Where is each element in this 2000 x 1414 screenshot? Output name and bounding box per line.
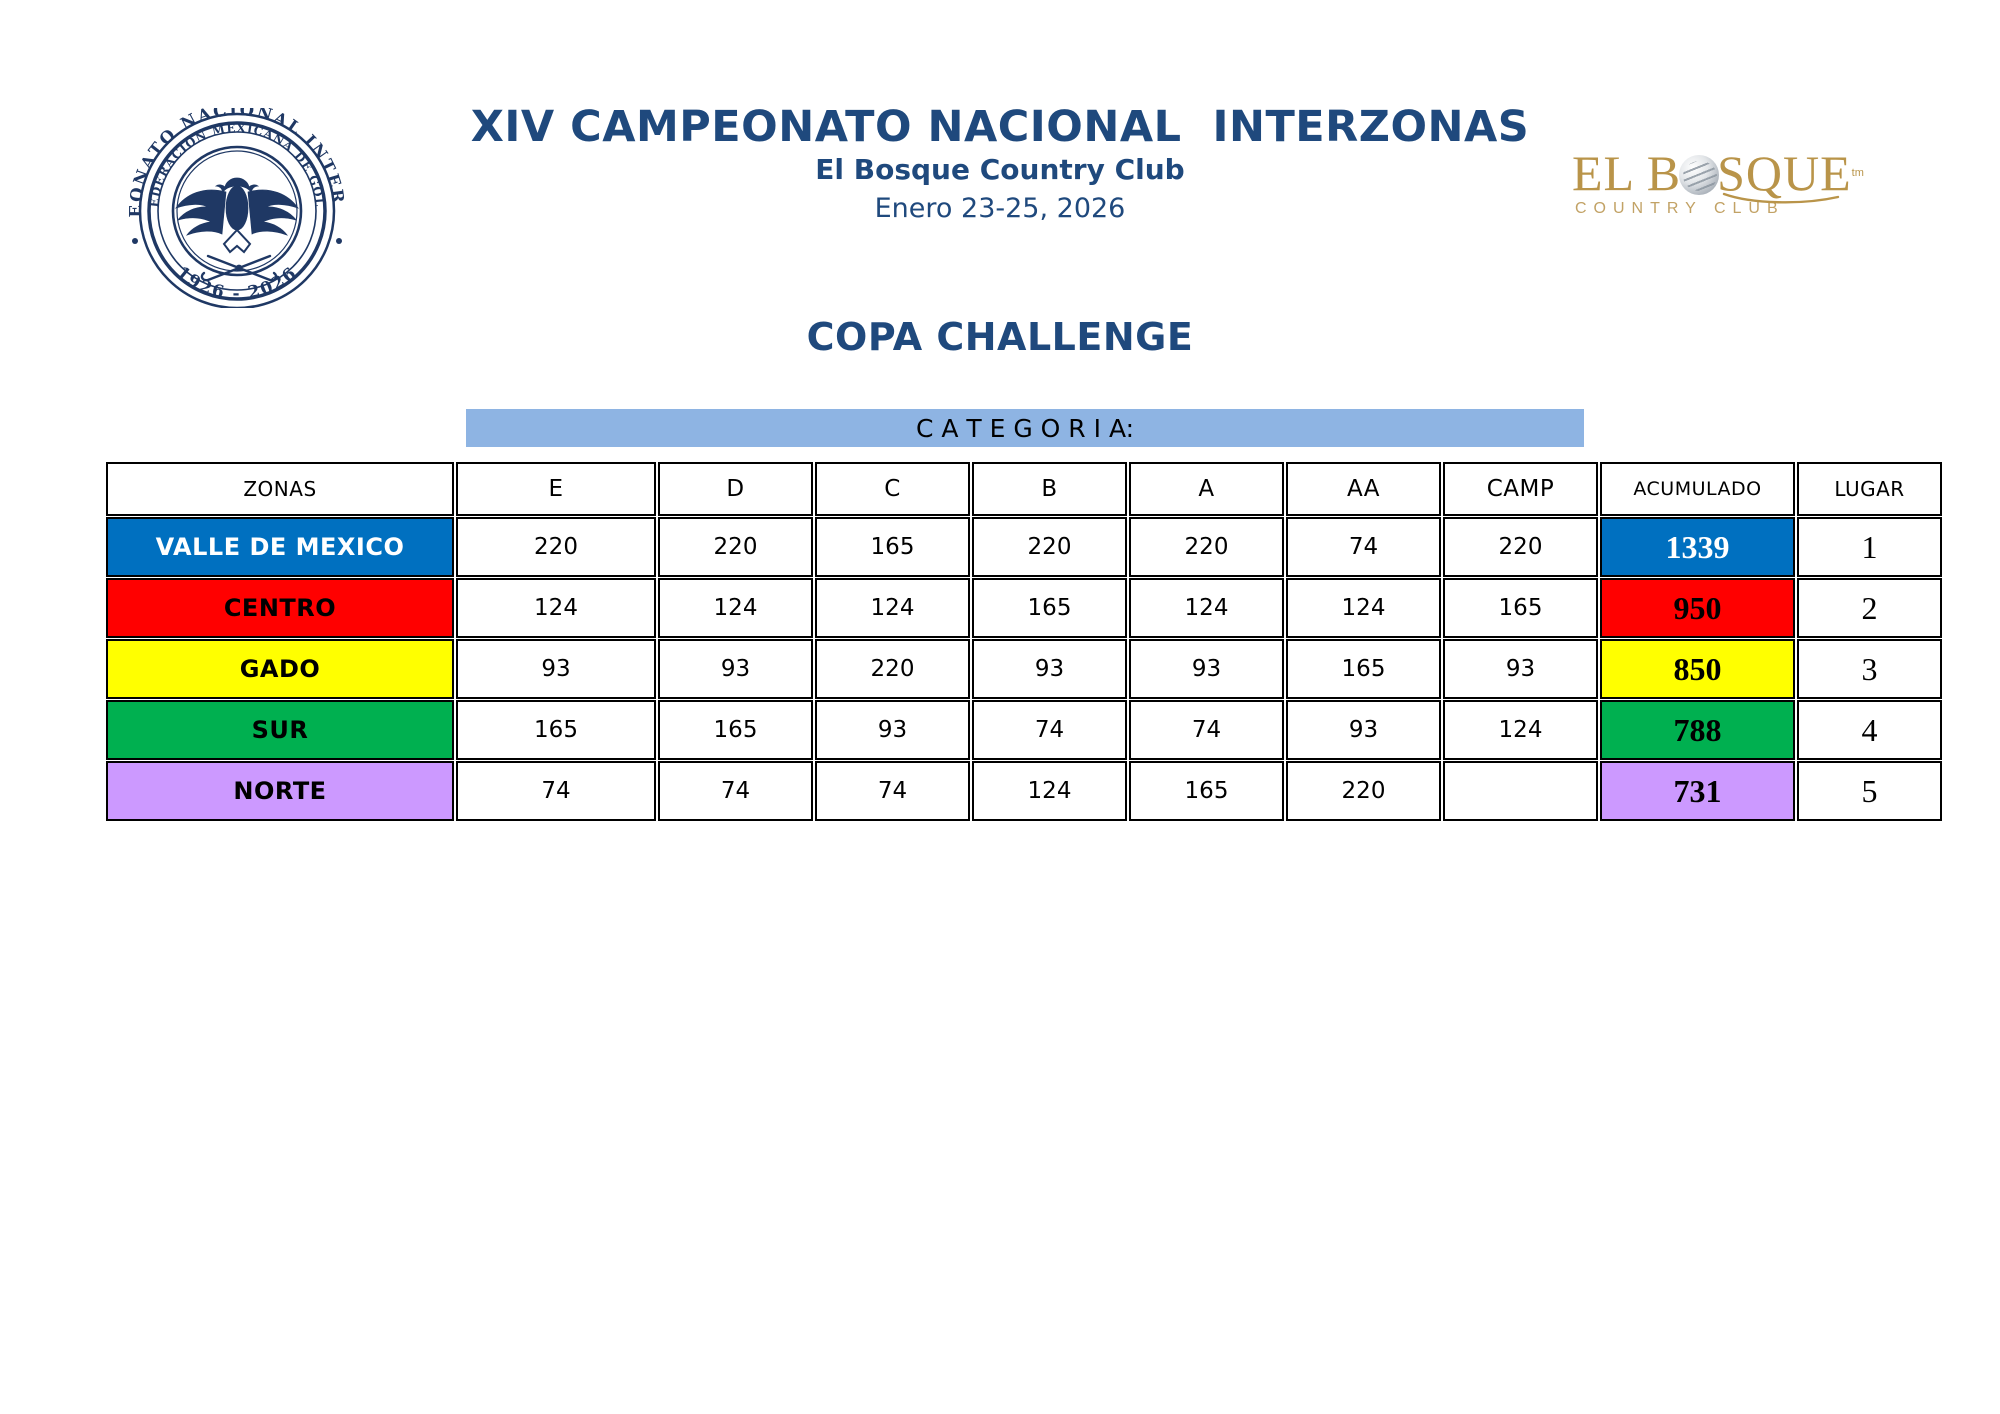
lugar-cell: 2 xyxy=(1797,578,1942,638)
golf-ball-icon xyxy=(1679,155,1719,195)
score-cell-aa: 124 xyxy=(1286,578,1441,638)
acumulado-cell: 731 xyxy=(1600,761,1795,821)
column-header-acumulado: ACUMULADO xyxy=(1600,462,1795,516)
column-header-a: A xyxy=(1129,462,1284,516)
zone-name-cell: NORTE xyxy=(106,761,454,821)
table-row: SUR 165 165 93 74 74 93 124 788 4 xyxy=(106,700,1942,760)
score-cell-a: 74 xyxy=(1129,700,1284,760)
score-cell-camp: 220 xyxy=(1443,517,1598,577)
standings-table: ZONAS E D C B A AA CAMP ACUMULADO LUGAR … xyxy=(104,461,1944,822)
table-header-row: ZONAS E D C B A AA CAMP ACUMULADO LUGAR xyxy=(106,462,1942,516)
standings-table-container: ZONAS E D C B A AA CAMP ACUMULADO LUGAR … xyxy=(104,461,1922,822)
score-cell-c: 93 xyxy=(815,700,970,760)
table-row: CENTRO 124 124 124 165 124 124 165 950 2 xyxy=(106,578,1942,638)
club-tagline: COUNTRY CLUB xyxy=(1575,200,1872,218)
score-cell-e: 220 xyxy=(456,517,656,577)
column-header-e: E xyxy=(456,462,656,516)
table-row: GADO 93 93 220 93 93 165 93 850 3 xyxy=(106,639,1942,699)
score-cell-e: 93 xyxy=(456,639,656,699)
acumulado-cell: 950 xyxy=(1600,578,1795,638)
score-cell-b: 165 xyxy=(972,578,1127,638)
lugar-cell: 5 xyxy=(1797,761,1942,821)
zone-name-cell: SUR xyxy=(106,700,454,760)
copa-challenge-title: COPA CHALLENGE xyxy=(0,315,2000,359)
score-cell-b: 124 xyxy=(972,761,1127,821)
score-cell-aa: 220 xyxy=(1286,761,1441,821)
categoria-banner: C A T E G O R I A: xyxy=(466,409,1584,447)
acumulado-cell: 850 xyxy=(1600,639,1795,699)
categoria-label: C A T E G O R I A: xyxy=(916,414,1134,443)
el-bosque-country-club-logo: EL BSQUEtm COUNTRY CLUB xyxy=(1572,148,1872,220)
column-header-b: B xyxy=(972,462,1127,516)
score-cell-e: 165 xyxy=(456,700,656,760)
score-cell-camp xyxy=(1443,761,1598,821)
table-header: ZONAS E D C B A AA CAMP ACUMULADO LUGAR xyxy=(106,462,1942,516)
club-wordmark: EL BSQUEtm xyxy=(1572,148,1872,198)
score-cell-camp: 93 xyxy=(1443,639,1598,699)
score-cell-d: 124 xyxy=(658,578,813,638)
score-cell-a: 165 xyxy=(1129,761,1284,821)
column-header-zonas: ZONAS xyxy=(106,462,454,516)
score-cell-camp: 165 xyxy=(1443,578,1598,638)
column-header-d: D xyxy=(658,462,813,516)
table-row: NORTE 74 74 74 124 165 220 731 5 xyxy=(106,761,1942,821)
score-cell-aa: 74 xyxy=(1286,517,1441,577)
score-cell-a: 93 xyxy=(1129,639,1284,699)
column-header-lugar: LUGAR xyxy=(1797,462,1942,516)
score-cell-c: 74 xyxy=(815,761,970,821)
score-cell-e: 124 xyxy=(456,578,656,638)
acumulado-cell: 788 xyxy=(1600,700,1795,760)
zone-name-cell: VALLE DE MEXICO xyxy=(106,517,454,577)
score-cell-c: 124 xyxy=(815,578,970,638)
score-cell-a: 220 xyxy=(1129,517,1284,577)
score-cell-a: 124 xyxy=(1129,578,1284,638)
column-header-camp: CAMP xyxy=(1443,462,1598,516)
score-cell-d: 74 xyxy=(658,761,813,821)
score-cell-b: 93 xyxy=(972,639,1127,699)
score-cell-d: 220 xyxy=(658,517,813,577)
score-cell-c: 165 xyxy=(815,517,970,577)
score-cell-b: 220 xyxy=(972,517,1127,577)
score-cell-b: 74 xyxy=(972,700,1127,760)
score-cell-aa: 165 xyxy=(1286,639,1441,699)
club-wordmark-part2: SQUE xyxy=(1717,145,1852,201)
score-cell-aa: 93 xyxy=(1286,700,1441,760)
zone-name-cell: GADO xyxy=(106,639,454,699)
lugar-cell: 3 xyxy=(1797,639,1942,699)
score-cell-e: 74 xyxy=(456,761,656,821)
score-cell-d: 93 xyxy=(658,639,813,699)
lugar-cell: 1 xyxy=(1797,517,1942,577)
page-header: CAMPEONATO NACIONAL INTERZONAS FEDERACIÓ… xyxy=(0,0,2000,290)
acumulado-cell: 1339 xyxy=(1600,517,1795,577)
lugar-cell: 4 xyxy=(1797,700,1942,760)
score-cell-c: 220 xyxy=(815,639,970,699)
column-header-c: C xyxy=(815,462,970,516)
trademark-mark: tm xyxy=(1852,167,1864,179)
score-cell-d: 165 xyxy=(658,700,813,760)
table-row: VALLE DE MEXICO 220 220 165 220 220 74 2… xyxy=(106,517,1942,577)
club-wordmark-part1: EL B xyxy=(1572,145,1681,201)
table-body: VALLE DE MEXICO 220 220 165 220 220 74 2… xyxy=(106,517,1942,821)
column-header-aa: AA xyxy=(1286,462,1441,516)
zone-name-cell: CENTRO xyxy=(106,578,454,638)
score-cell-camp: 124 xyxy=(1443,700,1598,760)
federacion-mexicana-de-golf-seal-logo: CAMPEONATO NACIONAL INTERZONAS FEDERACIÓ… xyxy=(104,108,369,308)
